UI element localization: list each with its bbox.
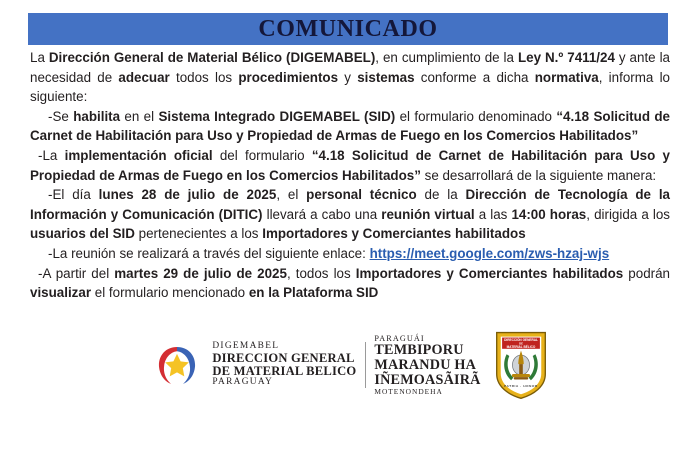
guarani-line5: MOTENONDEHA [374,388,480,396]
text-emphasis: Importadores y Comerciantes habilitados [356,266,623,281]
text-emphasis: adecuar [118,70,169,85]
text-emphasis: en la Plataforma SID [249,285,379,300]
text-run: pertenecientes a los [135,226,262,241]
paragraph-p1: La Dirección General de Material Bélico … [30,48,670,107]
paraguay-star-wreath-icon [151,341,203,389]
text-emphasis: lunes 28 de julio de 2025 [99,187,277,202]
svg-text:PATRIA · HONOR: PATRIA · HONOR [504,384,538,388]
text-run: se desarrollará de la siguiente manera: [421,168,656,183]
text-run: , dirigida a los [586,207,670,222]
guarani-wordmark: PARAGUÁI TEMBIPORU MARANDU HA IÑEMOASÃIR… [374,335,492,396]
digemabel-line4: PARAGUAY [212,378,356,388]
svg-text:MATERIAL BÉLICO: MATERIAL BÉLICO [506,344,535,349]
guarani-line2: TEMBIPORU [374,343,480,358]
text-emphasis: reunión virtual [381,207,474,222]
text-run: el formulario mencionado [91,285,249,300]
meeting-link[interactable]: https://meet.google.com/zws-hzaj-wjs [370,246,610,261]
text-emphasis: personal técnico [306,187,417,202]
digemabel-line3: DE MATERIAL BELICO [212,365,356,378]
digemabel-shield-icon: DIRECCIÓN GENERAL DE MATERIAL BÉLICO PAT… [493,329,549,401]
paragraph-p6: -A partir del martes 29 de julio de 2025… [30,264,670,303]
text-emphasis: normativa [535,70,599,85]
footer-divider [365,342,366,388]
text-emphasis: Importadores y Comerciantes habilitados [262,226,525,241]
guarani-line4: IÑEMOASÃIRÃ [374,373,480,388]
text-run: a las [475,207,512,222]
text-run: llevará a cabo una [263,207,382,222]
text-run: conforme a dicha [415,70,535,85]
text-run: -Se [48,109,73,124]
text-run: , el [276,187,306,202]
text-emphasis: martes 29 de julio de 2025 [114,266,287,281]
text-run: -A partir del [38,266,114,281]
paragraph-p2: -Se habilita en el Sistema Integrado DIG… [30,107,670,146]
page-title: COMUNICADO [258,17,437,41]
comunicado-page: COMUNICADO La Dirección General de Mater… [0,0,700,450]
text-run: de la [417,187,466,202]
text-run: -La [38,148,65,163]
text-run: en el [120,109,158,124]
banner: COMUNICADO [28,13,668,45]
text-emphasis: visualizar [30,285,91,300]
text-emphasis: Sistema Integrado DIGEMABEL (SID) [158,109,395,124]
text-run: el formulario denominado [395,109,556,124]
paragraph-p3: -La implementación oficial del formulari… [30,146,670,185]
text-run: y [338,70,357,85]
text-run: -La reunión se realizará a través del si… [48,246,370,261]
digemabel-wordmark: DIGEMABEL DIRECCION GENERAL DE MATERIAL … [212,342,365,389]
text-emphasis: Ley N.º 7411/24 [518,50,615,65]
text-run: todos los [170,70,239,85]
text-run: podrán [623,266,670,281]
text-run: del formulario [213,148,312,163]
text-emphasis: habilita [73,109,120,124]
text-emphasis: usuarios del SID [30,226,135,241]
text-emphasis: 14:00 horas [511,207,586,222]
text-emphasis: procedimientos [238,70,338,85]
document-body: La Dirección General de Material Bélico … [30,48,670,303]
guarani-line3: MARANDU HA [374,358,480,373]
footer: DIGEMABEL DIRECCION GENERAL DE MATERIAL … [0,325,700,405]
text-run: , en cumplimiento de la [375,50,518,65]
paragraph-p5: -La reunión se realizará a través del si… [30,244,670,264]
digemabel-line2: DIRECCION GENERAL [212,352,356,365]
text-run: -El día [48,187,99,202]
paragraph-p4: -El día lunes 28 de julio de 2025, el pe… [30,185,670,244]
text-run: , todos los [287,266,356,281]
text-run: La [30,50,49,65]
text-emphasis: implementación oficial [65,148,213,163]
text-emphasis: sistemas [357,70,414,85]
text-emphasis: Dirección General de Material Bélico (DI… [49,50,375,65]
